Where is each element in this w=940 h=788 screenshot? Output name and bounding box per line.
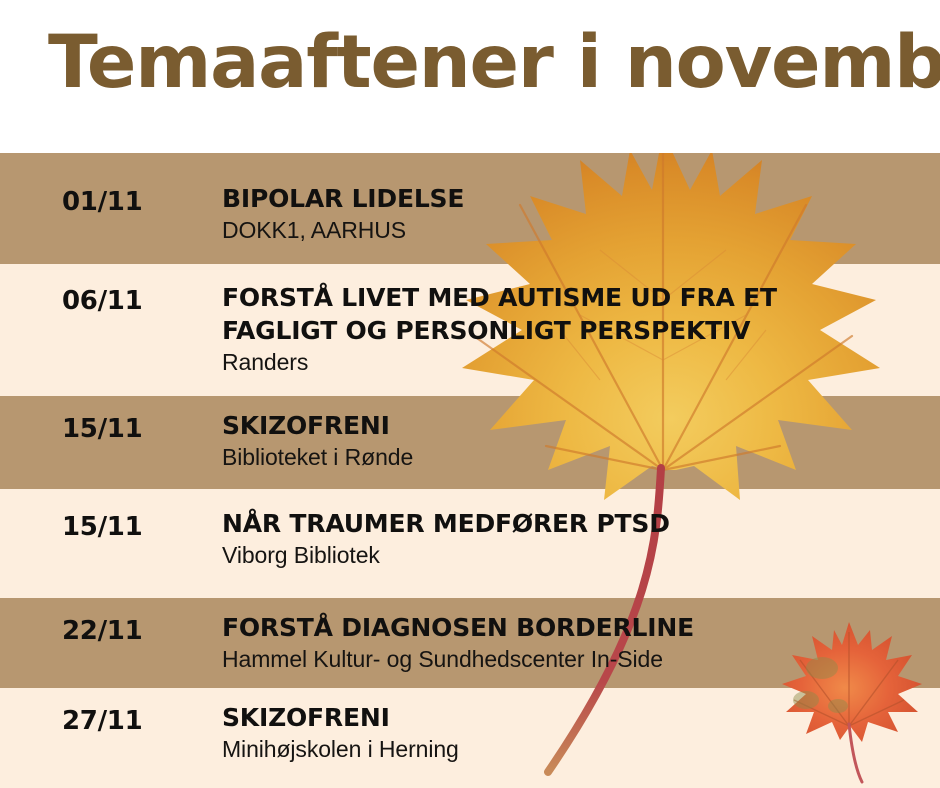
event-venue: Minihøjskolen i Herning xyxy=(222,734,930,764)
event-body: SKIZOFRENI Minihøjskolen i Herning xyxy=(222,701,930,764)
event-date: 01/11 xyxy=(62,187,142,217)
event-title: SKIZOFRENI xyxy=(222,409,930,442)
event-date: 22/11 xyxy=(62,616,142,646)
event-title: NÅR TRAUMER MEDFØRER PTSD xyxy=(222,507,930,540)
event-body: NÅR TRAUMER MEDFØRER PTSD Viborg Bibliot… xyxy=(222,507,930,570)
event-title: BIPOLAR LIDELSE xyxy=(222,182,930,215)
event-date: 15/11 xyxy=(62,414,142,444)
event-body: BIPOLAR LIDELSE DOKK1, AARHUS xyxy=(222,182,930,245)
event-venue: Hammel Kultur- og Sundhedscenter In-Side xyxy=(222,644,930,674)
event-title: SKIZOFRENI xyxy=(222,701,930,734)
event-body: FORSTÅ DIAGNOSEN BORDERLINE Hammel Kultu… xyxy=(222,611,930,674)
event-title: FORSTÅ DIAGNOSEN BORDERLINE xyxy=(222,611,930,644)
list-item: 06/11 FORSTÅ LIVET MED AUTISME UD FRA ET… xyxy=(0,264,940,396)
event-date: 27/11 xyxy=(62,706,142,736)
event-title-line2: FAGLIGT OG PERSONLIGT PERSPEKTIV xyxy=(222,314,930,347)
page-title: Temaaftener i november xyxy=(48,26,940,99)
event-venue: DOKK1, AARHUS xyxy=(222,215,930,245)
event-venue: Randers xyxy=(222,347,930,377)
list-item: 15/11 SKIZOFRENI Biblioteket i Rønde xyxy=(0,396,940,489)
poster: Temaaftener i november 01/11 BIPOLAR LID… xyxy=(0,0,940,788)
list-item: 27/11 SKIZOFRENI Minihøjskolen i Herning xyxy=(0,688,940,788)
event-body: SKIZOFRENI Biblioteket i Rønde xyxy=(222,409,930,472)
event-title: FORSTÅ LIVET MED AUTISME UD FRA ET xyxy=(222,281,930,314)
list-item: 22/11 FORSTÅ DIAGNOSEN BORDERLINE Hammel… xyxy=(0,598,940,688)
event-body: FORSTÅ LIVET MED AUTISME UD FRA ET FAGLI… xyxy=(222,281,930,377)
list-item: 15/11 NÅR TRAUMER MEDFØRER PTSD Viborg B… xyxy=(0,489,940,598)
event-venue: Biblioteket i Rønde xyxy=(222,442,930,472)
event-date: 15/11 xyxy=(62,512,142,542)
event-date: 06/11 xyxy=(62,286,142,316)
list-item: 01/11 BIPOLAR LIDELSE DOKK1, AARHUS xyxy=(0,153,940,264)
event-venue: Viborg Bibliotek xyxy=(222,540,930,570)
title-area: Temaaftener i november xyxy=(0,0,940,153)
